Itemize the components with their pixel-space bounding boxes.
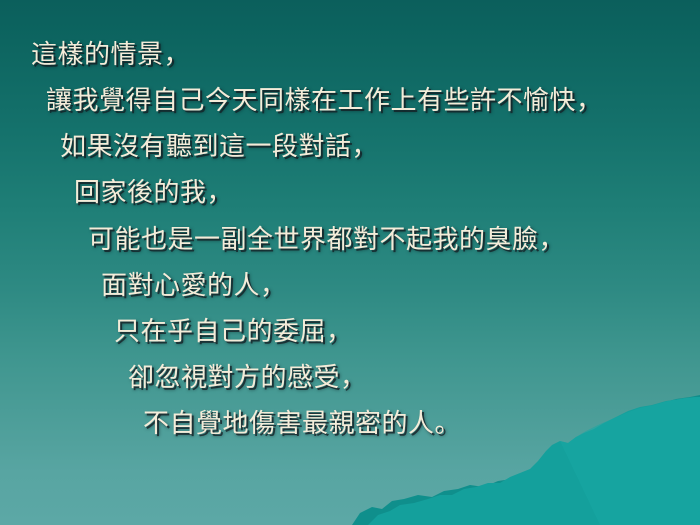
slide-canvas: 這樣的情景， 讓我覺得自己今天同樣在工作上有些許不愉快， 如果沒有聽到這一段對話… xyxy=(0,0,700,525)
verse-line-9: 不自覺地傷害最親密的人。 xyxy=(143,411,461,437)
verse-line-8: 卻忽視對方的感受， xyxy=(128,365,367,391)
verse-line-6: 面對心愛的人， xyxy=(101,273,287,299)
verse-line-7: 只在乎自己的委屈， xyxy=(114,319,353,345)
verse-line-1: 這樣的情景， xyxy=(31,42,190,68)
verse-text-block: 這樣的情景， 讓我覺得自己今天同樣在工作上有些許不愉快， 如果沒有聽到這一段對話… xyxy=(0,0,700,525)
verse-line-3: 如果沒有聽到這一段對話， xyxy=(60,134,378,160)
verse-line-5: 可能也是一副全世界都對不起我的臭臉， xyxy=(88,227,565,253)
verse-line-2: 讓我覺得自己今天同樣在工作上有些許不愉快， xyxy=(46,88,603,114)
verse-line-4: 回家後的我， xyxy=(74,180,233,206)
